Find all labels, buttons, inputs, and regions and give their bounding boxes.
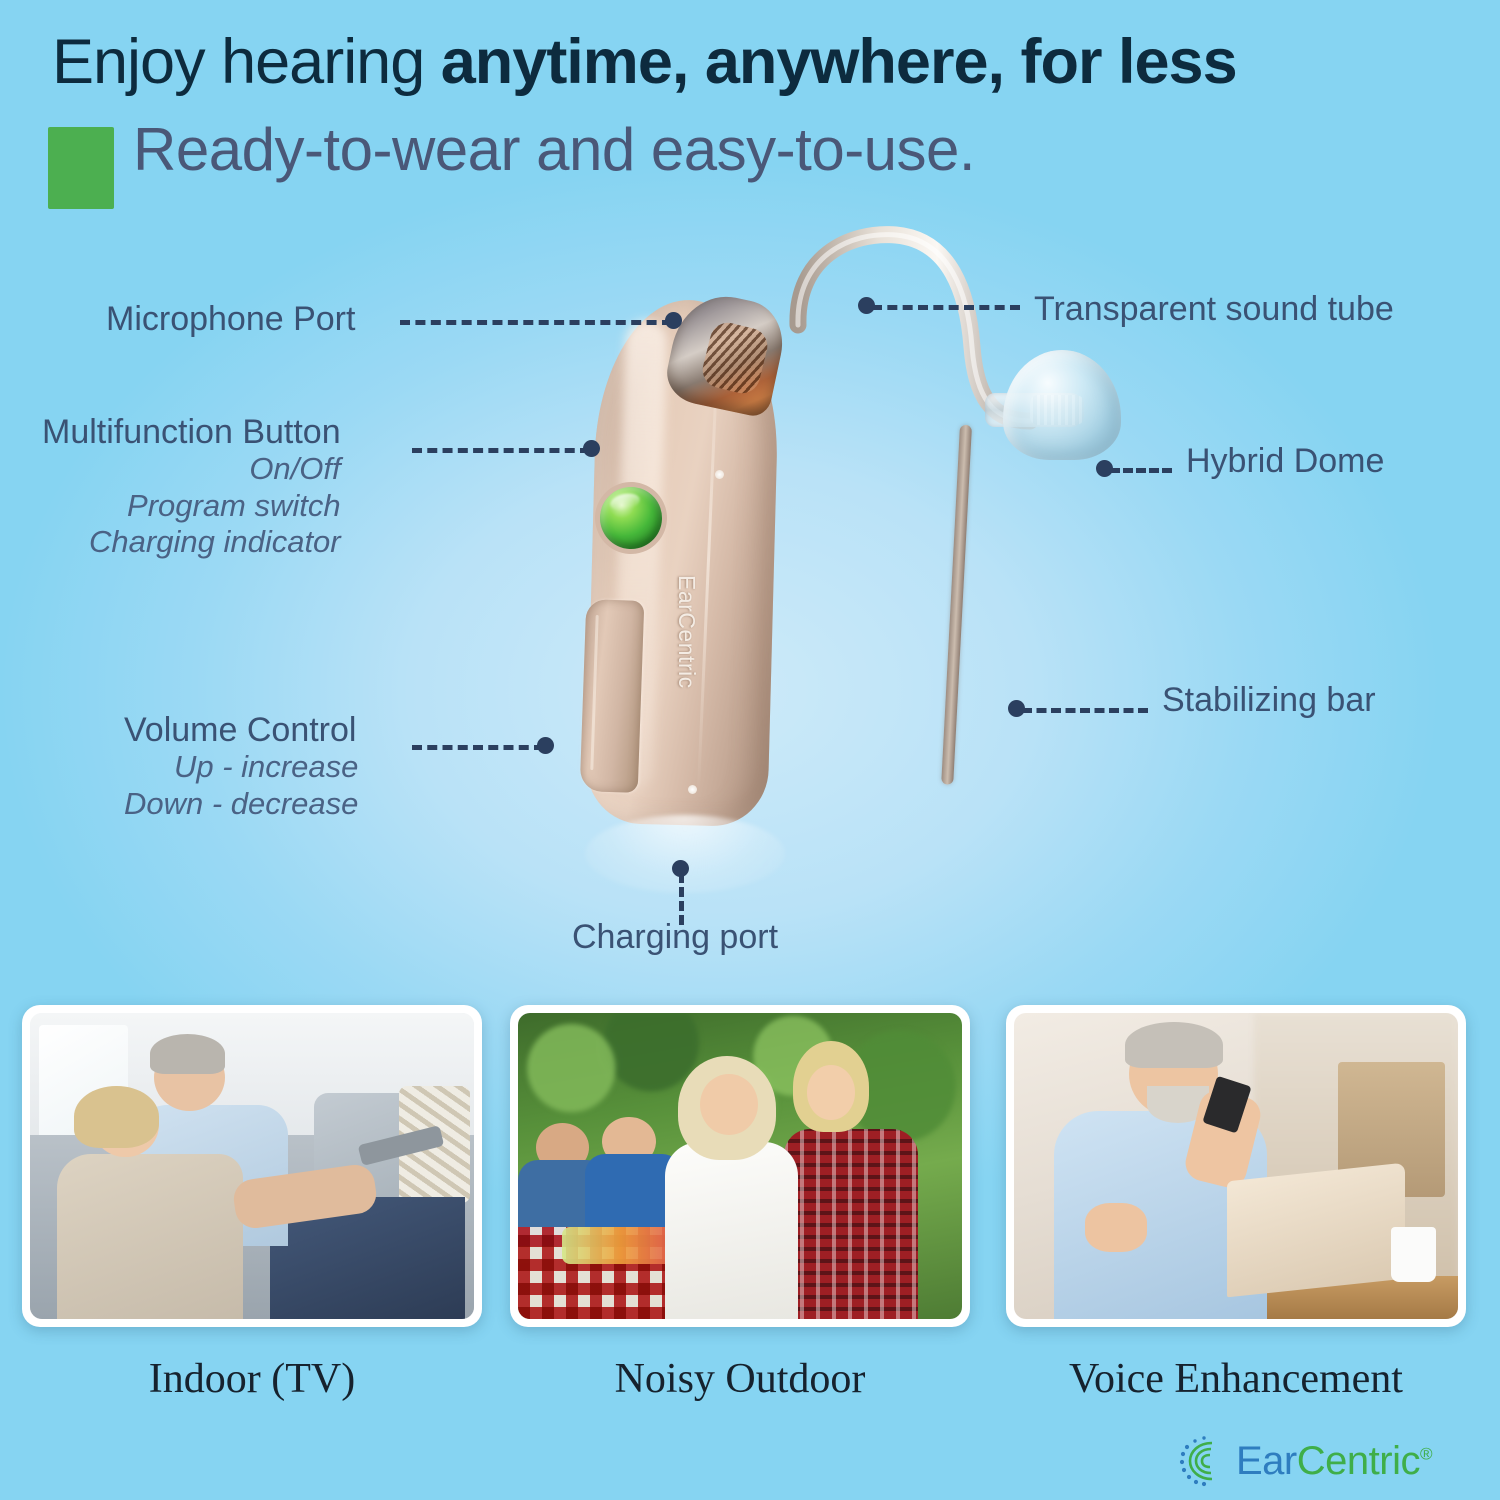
photo-captions: Indoor (TV) Noisy Outdoor Voice Enhancem… [0, 1355, 1500, 1435]
callout-multifunction-button-label: Multifunction Button [42, 413, 341, 451]
leader-line-hybrid-dome [1110, 468, 1172, 473]
leader-dot-multifunction-button [583, 440, 600, 457]
caption-noisy-outdoor: Noisy Outdoor [510, 1355, 970, 1403]
callout-hybrid-dome: Hybrid Dome [1186, 442, 1384, 480]
led-indicator-top [715, 470, 724, 479]
earcentric-swirl-icon [1178, 1435, 1230, 1487]
device-brand-text: EarCentric [673, 575, 700, 689]
photo-image-voice-enhancement [1014, 1013, 1458, 1319]
photo-card-noisy-outdoor[interactable] [510, 1005, 970, 1327]
title-bold: anytime, anywhere, for less [441, 27, 1237, 97]
photo-card-voice-enhancement[interactable] [1006, 1005, 1466, 1327]
photo-image-noisy-outdoor [518, 1013, 962, 1319]
page-subtitle: Ready-to-wear and easy-to-use. [133, 120, 975, 180]
callout-multifunction-sub-program: Program switch [42, 488, 341, 525]
callout-volume-sub-up: Up - increase [124, 749, 358, 786]
leader-dot-microphone-port [665, 312, 682, 329]
logo-centric-text: Centric [1297, 1439, 1420, 1483]
caption-indoor-tv: Indoor (TV) [22, 1355, 482, 1403]
leader-line-microphone-port [400, 320, 672, 325]
logo-registered-mark: ® [1420, 1445, 1432, 1464]
callout-volume-control-label: Volume Control [124, 711, 358, 749]
callout-microphone-port: Microphone Port [106, 300, 355, 338]
callout-volume-sub-down: Down - decrease [124, 786, 358, 823]
infographic-page: Enjoy hearing anytime, anywhere, for les… [0, 0, 1500, 1500]
callout-charging-port: Charging port [572, 918, 778, 956]
leader-line-volume-control [412, 745, 544, 750]
callout-multifunction-sub-onoff: On/Off [42, 451, 341, 488]
callout-stabilizing-bar: Stabilizing bar [1162, 681, 1376, 719]
led-indicator-bottom [688, 785, 697, 794]
callout-multifunction-button: Multifunction Button On/Off Program swit… [42, 413, 341, 561]
volume-rocker[interactable] [580, 599, 645, 793]
photo-card-indoor-tv[interactable] [22, 1005, 482, 1327]
photo-strip [0, 1005, 1500, 1345]
caption-voice-enhancement: Voice Enhancement [1006, 1355, 1466, 1403]
callout-multifunction-sub-charging: Charging indicator [42, 524, 341, 561]
photo-image-indoor-tv [30, 1013, 474, 1319]
leader-line-stabilizing-bar [1022, 708, 1148, 713]
accent-block [48, 127, 114, 209]
header: Enjoy hearing anytime, anywhere, for les… [0, 0, 1500, 230]
leader-line-multifunction-button [412, 448, 590, 453]
earcentric-logo[interactable]: EarCentric® [1178, 1432, 1432, 1490]
logo-wordmark: EarCentric® [1236, 1441, 1432, 1481]
device-reflection [585, 815, 785, 893]
callout-volume-control: Volume Control Up - increase Down - decr… [124, 711, 358, 822]
page-title: Enjoy hearing anytime, anywhere, for les… [52, 30, 1237, 94]
callout-sound-tube: Transparent sound tube [1034, 290, 1394, 328]
logo-ear-text: Ear [1236, 1439, 1297, 1483]
leader-dot-volume-control [537, 737, 554, 754]
title-light: Enjoy hearing [52, 27, 441, 97]
leader-line-sound-tube [872, 305, 1020, 310]
